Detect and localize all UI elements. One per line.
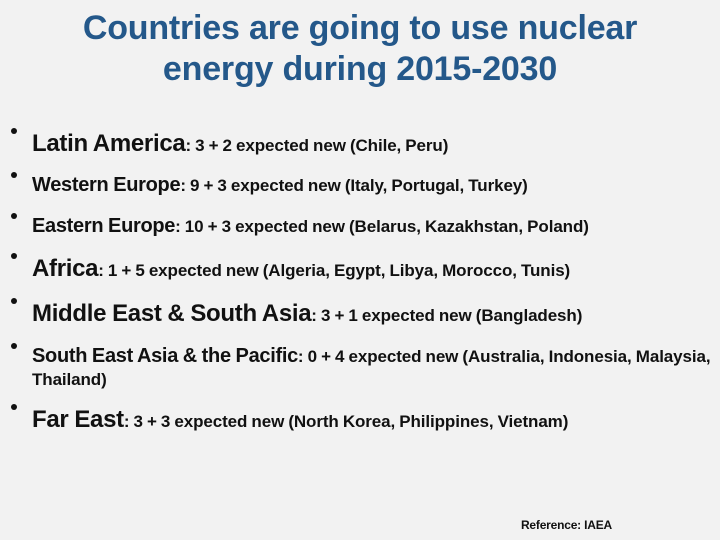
bullet-point-icon <box>11 298 17 304</box>
list-item: Far East: 3 + 3 expected new (North Kore… <box>0 404 720 435</box>
list-item-text: Middle East & South Asia: 3 + 1 expected… <box>32 298 718 329</box>
bullet-point-icon <box>11 128 17 134</box>
list-item-text: South East Asia & the Pacific: 0 + 4 exp… <box>32 343 718 392</box>
slide-canvas: Countries are going to use nuclear energ… <box>0 0 720 540</box>
bullet-point-icon <box>11 253 17 259</box>
region-label: Middle East & South Asia <box>32 300 311 327</box>
page-title-line-1: Countries are going to use nuclear <box>0 8 720 49</box>
bullet-point-icon <box>11 172 17 178</box>
list-item-text: Western Europe: 9 + 3 expected new (Ital… <box>32 172 718 198</box>
region-detail: : 1 + 5 expected new (Algeria, Egypt, Li… <box>98 261 570 280</box>
bullet-point-icon <box>11 343 17 349</box>
region-label: Latin America <box>32 130 185 157</box>
page-title-line-2: energy during 2015-2030 <box>0 49 720 90</box>
list-item: Western Europe: 9 + 3 expected new (Ital… <box>0 172 720 198</box>
list-item: Latin America: 3 + 2 expected new (Chile… <box>0 128 720 159</box>
bullet-point-icon <box>11 404 17 410</box>
region-detail: : 10 + 3 expected new (Belarus, Kazakhst… <box>175 217 589 236</box>
list-item: Eastern Europe: 10 + 3 expected new (Bel… <box>0 213 720 239</box>
list-item-text: Far East: 3 + 3 expected new (North Kore… <box>32 404 718 435</box>
region-label: South East Asia & the Pacific <box>32 345 298 367</box>
region-label: Eastern Europe <box>32 215 175 237</box>
region-label: Far East <box>32 406 124 433</box>
reference-note: Reference: IAEA <box>521 518 612 532</box>
page-title: Countries are going to use nuclear energ… <box>0 8 720 91</box>
region-detail: : 3 + 2 expected new (Chile, Peru) <box>185 136 448 155</box>
list-item: Middle East & South Asia: 3 + 1 expected… <box>0 298 720 329</box>
region-label: Africa <box>32 255 98 282</box>
region-detail: : 3 + 3 expected new (North Korea, Phili… <box>124 412 568 431</box>
bullet-point-icon <box>11 213 17 219</box>
region-detail: : 9 + 3 expected new (Italy, Portugal, T… <box>180 176 527 195</box>
list-item-text: Africa: 1 + 5 expected new (Algeria, Egy… <box>32 253 718 284</box>
list-item: Africa: 1 + 5 expected new (Algeria, Egy… <box>0 253 720 284</box>
list-item-text: Latin America: 3 + 2 expected new (Chile… <box>32 128 718 159</box>
region-detail: : 3 + 1 expected new (Bangladesh) <box>311 306 582 325</box>
region-bullet-list: Latin America: 3 + 2 expected new (Chile… <box>0 128 720 436</box>
region-label: Western Europe <box>32 174 180 196</box>
list-item: South East Asia & the Pacific: 0 + 4 exp… <box>0 343 720 392</box>
list-item-text: Eastern Europe: 10 + 3 expected new (Bel… <box>32 213 718 239</box>
